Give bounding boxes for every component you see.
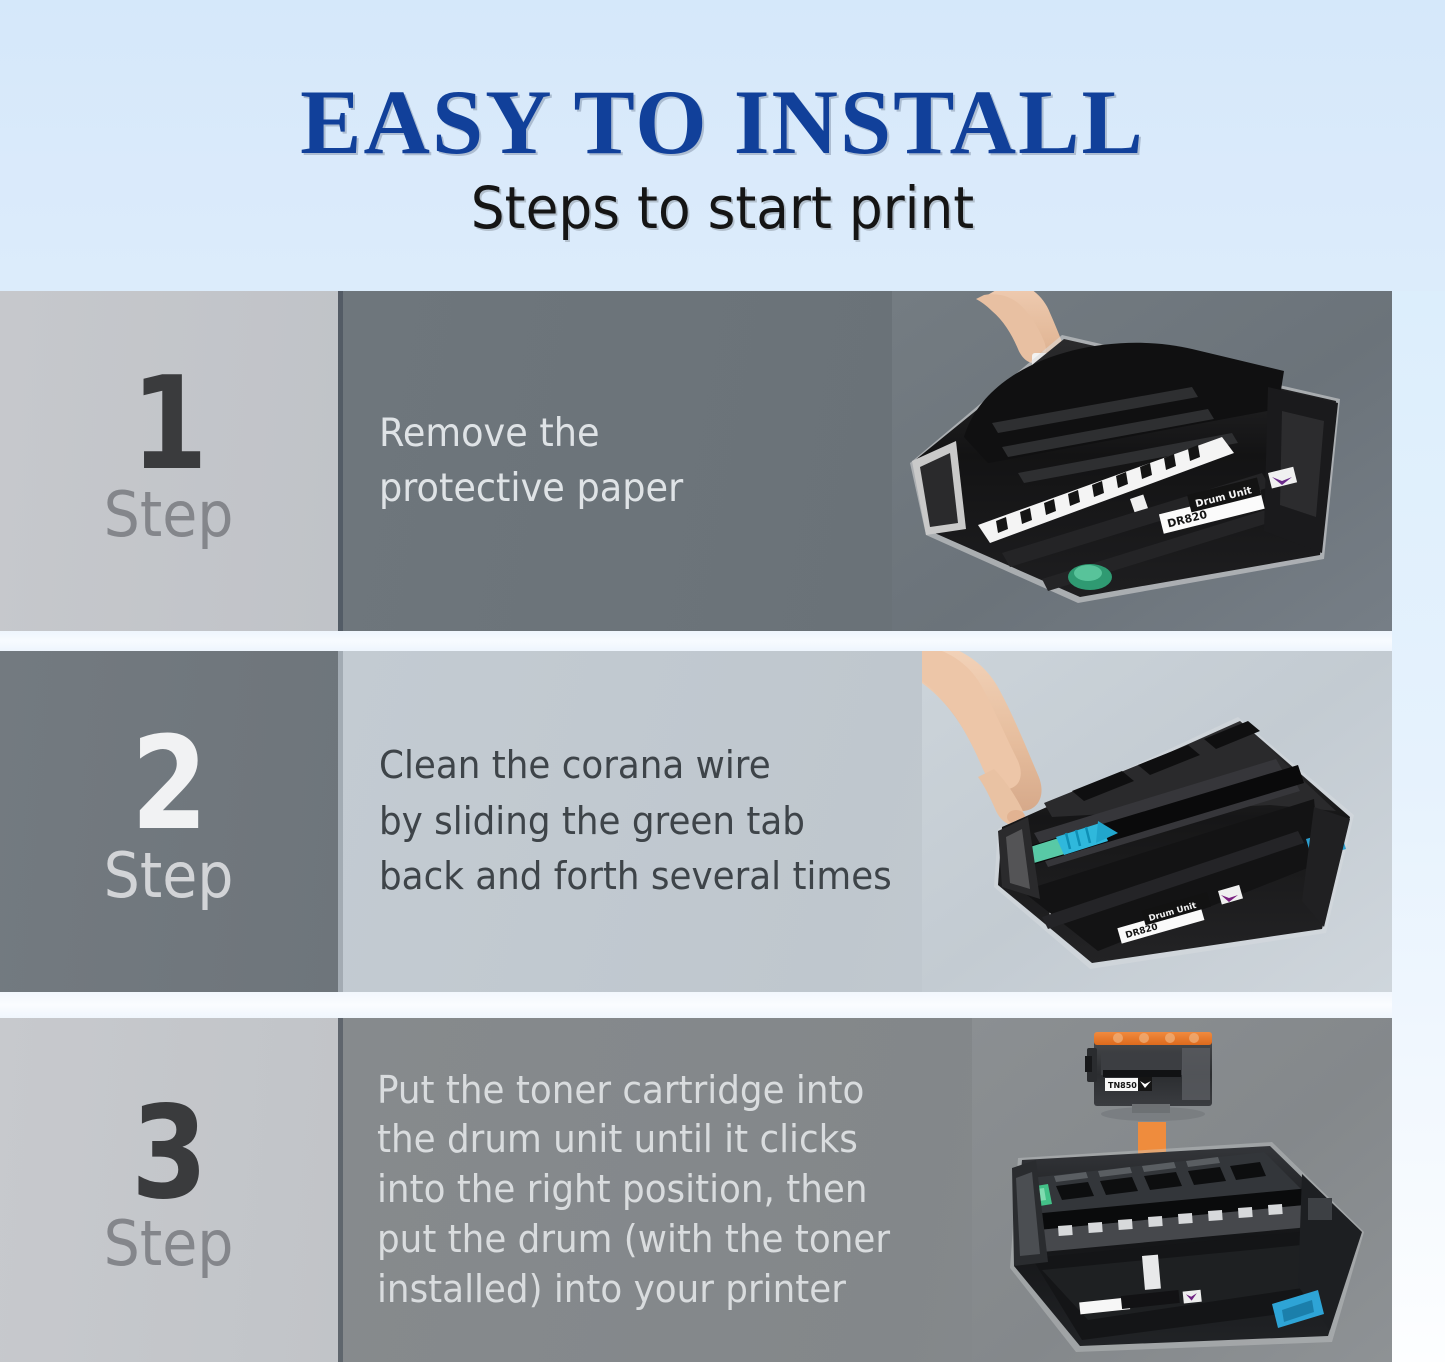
step-row-1: 1 Step Remove the protective paper <box>0 291 1392 631</box>
drum-unit-body <box>1010 1142 1364 1352</box>
step-label-2: Step <box>104 845 234 907</box>
toner-cartridge: TN850 <box>1085 1032 1212 1121</box>
svg-text:DR820: DR820 <box>1166 508 1209 531</box>
step-row-2: 2 Step Clean the corana wire by sliding … <box>0 651 1392 992</box>
toner-label: TN850 <box>1105 1077 1152 1091</box>
page-title: EASY TO INSTALL <box>0 0 1445 166</box>
product-label <box>1079 1288 1202 1315</box>
toner-into-drum-photo: TN850 <box>972 1018 1392 1362</box>
step-number-panel-1: 1 Step <box>0 291 338 631</box>
drum-unit-body: DR820 Drum Unit <box>910 335 1340 603</box>
green-corona-tab <box>1024 1184 1052 1208</box>
step-label-1: Step <box>104 484 234 546</box>
step-instruction-3: Put the toner cartridge into the drum un… <box>377 1066 890 1315</box>
svg-text:Drum Unit: Drum Unit <box>1194 485 1253 510</box>
hand-illustration <box>976 291 1070 387</box>
product-label: DR820 Drum Unit <box>1156 478 1265 534</box>
step-instruction-1: Remove the protective paper <box>379 406 683 517</box>
green-corona-slider-tab <box>1030 821 1118 863</box>
step-body-panel-2: Clean the corana wire by sliding the gre… <box>338 651 1392 992</box>
green-roller-part <box>1068 564 1112 590</box>
row-gap-1 <box>0 631 1392 651</box>
step-row-3: 3 Step Put the toner cartridge into the … <box>0 1018 1392 1362</box>
step-number-panel-2: 2 Step <box>0 651 338 992</box>
row-gap-2 <box>0 992 1392 1018</box>
step-instruction-2: Clean the corana wire by sliding the gre… <box>379 738 892 904</box>
svg-text:DR820: DR820 <box>1124 922 1159 941</box>
toner-label-text: TN850 <box>1108 1081 1137 1090</box>
drum-unit-corona-wire-photo: DR820 Drum Unit <box>922 651 1392 992</box>
step-number-2: 2 <box>132 730 207 840</box>
page-subtitle: Steps to start print <box>58 166 1387 239</box>
step-number-1: 1 <box>132 370 207 480</box>
step-number-3: 3 <box>132 1099 207 1209</box>
step-number-panel-3: 3 Step <box>0 1018 338 1362</box>
drum-unit-body: DR820 Drum Unit <box>994 717 1354 969</box>
step-label-3: Step <box>104 1213 234 1275</box>
svg-text:Drum Unit: Drum Unit <box>1148 901 1198 924</box>
step-body-panel-1: Remove the protective paper <box>338 291 1392 631</box>
pointing-hand-illustration <box>922 651 1042 825</box>
comb-strip <box>978 437 1234 543</box>
header-banner: EASY TO INSTALL Steps to start print <box>0 0 1445 291</box>
down-arrow-icon <box>1122 1122 1182 1186</box>
infographic-page: EASY TO INSTALL Steps to start print 1 S… <box>0 0 1445 1362</box>
product-label: DR820 Drum Unit <box>1115 892 1214 943</box>
drum-unit-protective-paper-photo: DR820 Drum Unit <box>892 291 1392 631</box>
cyan-handle <box>1306 829 1346 859</box>
protective-paper-tab <box>1032 353 1062 405</box>
cyan-handle <box>1272 1290 1324 1328</box>
step-body-panel-3: Put the toner cartridge into the drum un… <box>338 1018 1392 1362</box>
right-margin-strip <box>1392 291 1445 1362</box>
